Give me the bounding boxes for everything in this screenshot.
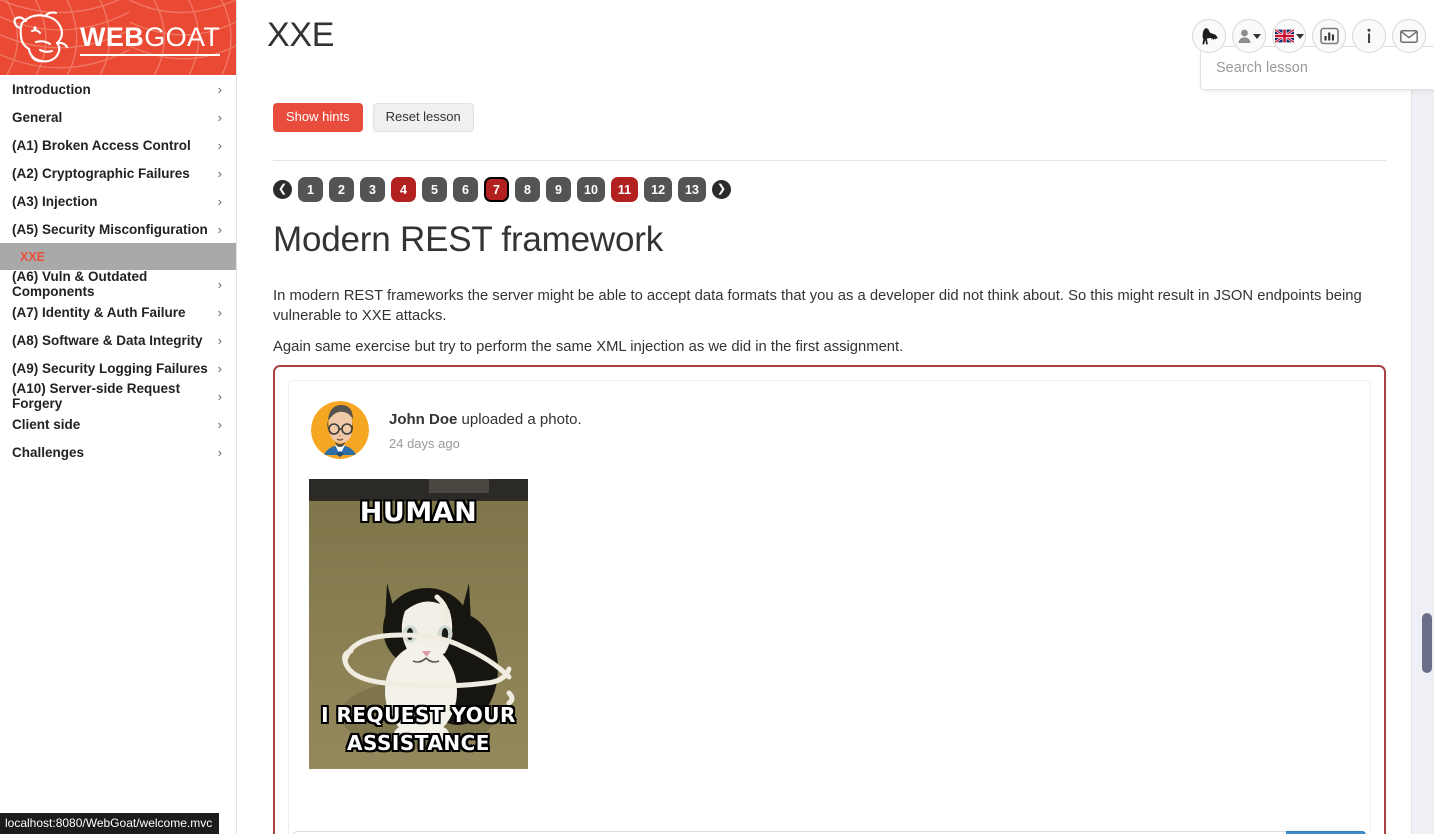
user-icon <box>1238 29 1251 43</box>
chevron-right-icon: › <box>218 361 222 376</box>
lesson-content: Show hints Reset lesson ❮ 1 2 3 4 5 6 7 … <box>237 75 1411 834</box>
page-button-8[interactable]: 8 <box>515 177 540 202</box>
meme-bottom-text-1: I REQUEST YOUR <box>309 703 528 727</box>
sidebar-item-a8-software-data-integrity[interactable]: (A8) Software & Data Integrity › <box>0 326 236 354</box>
avatar <box>311 401 369 459</box>
page-button-10[interactable]: 10 <box>577 177 605 202</box>
sidebar-item-label: General <box>12 110 62 125</box>
page-button-1[interactable]: 1 <box>298 177 323 202</box>
sidebar-item-general[interactable]: General › <box>0 103 236 131</box>
user-avatar-image <box>311 401 369 459</box>
chevron-right-icon: › <box>218 166 222 181</box>
goat-head-icon <box>12 9 74 67</box>
sidebar-item-a1-broken-access-control[interactable]: (A1) Broken Access Control › <box>0 131 236 159</box>
sidebar-item-label: XXE <box>20 250 45 264</box>
post-action: uploaded a photo. <box>457 411 581 428</box>
page-button-13[interactable]: 13 <box>678 177 706 202</box>
page-button-7[interactable]: 7 <box>484 177 509 202</box>
sidebar-item-label: (A9) Security Logging Failures <box>12 361 208 376</box>
sidebar-item-a10-server-side-request-forgery[interactable]: (A10) Server-side Request Forgery › <box>0 382 236 410</box>
brand-name-bold: WEB <box>80 22 144 56</box>
show-hints-button[interactable]: Show hints <box>273 103 363 132</box>
chevron-down-icon <box>1253 34 1261 39</box>
brand-header[interactable]: WEBGOAT <box>0 0 236 75</box>
sidebar: WEBGOAT Introduction › General › (A1) Br… <box>0 0 237 834</box>
sidebar-item-a5-security-misconfiguration[interactable]: (A5) Security Misconfiguration › <box>0 215 236 243</box>
post-header: John Doe uploaded a photo. 24 days ago <box>307 397 1352 459</box>
assignment-panel: John Doe uploaded a photo. 24 days ago <box>288 380 1371 834</box>
sidebar-item-label: (A10) Server-side Request Forgery <box>12 381 218 411</box>
page-button-5[interactable]: 5 <box>422 177 447 202</box>
info-icon-button[interactable] <box>1352 19 1386 53</box>
page-button-2[interactable]: 2 <box>329 177 354 202</box>
toolbar-divider <box>273 160 1386 161</box>
sidebar-item-label: (A6) Vuln & Outdated Components <box>12 269 218 299</box>
chevron-right-icon: › <box>218 222 222 237</box>
lesson-pagination: ❮ 1 2 3 4 5 6 7 8 9 10 11 12 13 ❯ <box>273 177 731 202</box>
meme-bottom-text-2: ASSISTANCE <box>309 731 528 755</box>
sidebar-item-client-side[interactable]: Client side › <box>0 410 236 438</box>
uk-flag-icon <box>1275 29 1294 43</box>
page-title: XXE <box>267 16 334 55</box>
sidebar-nav: Introduction › General › (A1) Broken Acc… <box>0 75 236 466</box>
meme-top-text: HUMAN <box>309 497 528 528</box>
post-text-block: John Doe uploaded a photo. 24 days ago <box>389 401 582 451</box>
sidebar-item-a3-injection[interactable]: (A3) Injection › <box>0 187 236 215</box>
page-button-11[interactable]: 11 <box>611 177 638 202</box>
page-button-9[interactable]: 9 <box>546 177 571 202</box>
sidebar-item-label: (A2) Cryptographic Failures <box>12 166 190 181</box>
sidebar-item-challenges[interactable]: Challenges › <box>0 438 236 466</box>
webgoat-app: WEBGOAT Introduction › General › (A1) Br… <box>0 0 1434 834</box>
chevron-right-icon: › <box>218 333 222 348</box>
pagination-prev-button[interactable]: ❮ <box>273 180 292 199</box>
sidebar-item-a2-cryptographic-failures[interactable]: (A2) Cryptographic Failures › <box>0 159 236 187</box>
chevron-right-icon: › <box>218 417 222 432</box>
bar-chart-icon-button[interactable] <box>1312 19 1346 53</box>
page-button-12[interactable]: 12 <box>644 177 672 202</box>
post-timestamp: 24 days ago <box>389 436 582 451</box>
envelope-icon <box>1400 30 1418 43</box>
lesson-paragraph-2: Again same exercise but try to perform t… <box>273 337 1381 357</box>
sidebar-item-label: Introduction <box>12 82 91 97</box>
sidebar-item-label: (A1) Broken Access Control <box>12 138 191 153</box>
page-button-6[interactable]: 6 <box>453 177 478 202</box>
page-button-4[interactable]: 4 <box>391 177 416 202</box>
info-icon <box>1365 28 1373 45</box>
sidebar-item-label: Challenges <box>12 445 84 460</box>
sidebar-item-a6-vuln-outdated-components[interactable]: (A6) Vuln & Outdated Components › <box>0 270 236 298</box>
chevron-right-icon: › <box>218 110 222 125</box>
main-area: XXE <box>237 0 1434 834</box>
sidebar-item-label: (A3) Injection <box>12 194 98 209</box>
reset-lesson-button[interactable]: Reset lesson <box>373 103 474 132</box>
goat-mascot-icon-button[interactable] <box>1192 19 1226 53</box>
lesson-paragraph-1: In modern REST frameworks the server mig… <box>273 286 1381 327</box>
chevron-right-icon: › <box>218 194 222 209</box>
sidebar-item-label: (A8) Software & Data Integrity <box>12 333 203 348</box>
sidebar-item-introduction[interactable]: Introduction › <box>0 75 236 103</box>
sidebar-item-label: Client side <box>12 417 80 432</box>
sidebar-item-xxe[interactable]: XXE <box>0 243 236 270</box>
pagination-next-button[interactable]: ❯ <box>712 180 731 199</box>
lesson-toolbar: Show hints Reset lesson <box>273 103 474 132</box>
search-input[interactable] <box>1201 60 1434 76</box>
chevron-right-icon: › <box>218 138 222 153</box>
chevron-right-icon: › <box>218 82 222 97</box>
post-action-line: John Doe uploaded a photo. <box>389 411 582 428</box>
top-bar: XXE <box>237 0 1434 75</box>
cat-hanger-meme-image: HUMAN I REQUEST YOUR ASSISTANCE <box>309 479 528 769</box>
sidebar-item-label: (A7) Identity & Auth Failure <box>12 305 186 320</box>
lesson-title: Modern REST framework <box>273 220 663 260</box>
post-author: John Doe <box>389 411 457 428</box>
sidebar-item-label: (A5) Security Misconfiguration <box>12 222 208 237</box>
sidebar-item-a7-identity-auth-failure[interactable]: (A7) Identity & Auth Failure › <box>0 298 236 326</box>
brand-wordmark: WEBGOAT <box>80 24 220 51</box>
chevron-right-icon: › <box>218 389 222 404</box>
chevron-right-icon: › <box>218 305 222 320</box>
sidebar-item-a9-security-logging-failures[interactable]: (A9) Security Logging Failures › <box>0 354 236 382</box>
header-icon-group <box>1192 19 1426 53</box>
goat-mascot-icon <box>1200 28 1219 45</box>
chevron-down-icon <box>1296 34 1304 39</box>
user-icon-button[interactable] <box>1232 19 1266 53</box>
scrollbar-thumb[interactable] <box>1422 613 1432 673</box>
chevron-right-icon: › <box>218 445 222 460</box>
uk-flag-icon-button[interactable] <box>1272 19 1306 53</box>
brand-name-light: GOAT <box>144 22 220 56</box>
envelope-icon-button[interactable] <box>1392 19 1426 53</box>
chevron-right-icon: › <box>218 277 222 292</box>
lesson-assignment-card: John Doe uploaded a photo. 24 days ago <box>273 365 1386 834</box>
page-scrollbar[interactable] <box>1411 75 1434 834</box>
bar-chart-icon <box>1320 27 1339 45</box>
page-button-3[interactable]: 3 <box>360 177 385 202</box>
status-bar-url: localhost:8080/WebGoat/welcome.mvc <box>0 813 219 834</box>
